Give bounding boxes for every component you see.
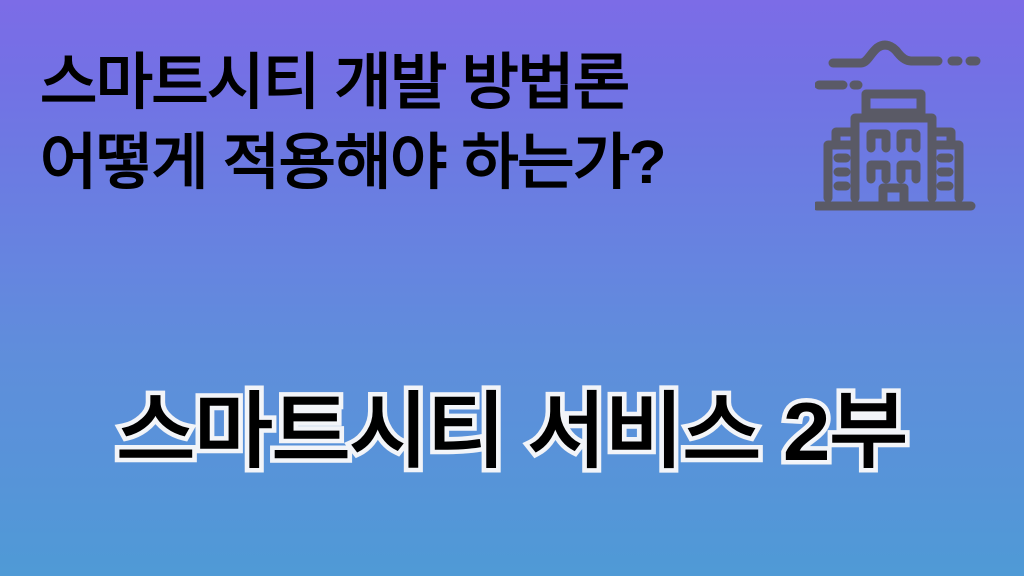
building-roof-cap [866,94,921,113]
headline-line-2: 어떻게 적용해야 하는가? [40,124,815,200]
city-buildings-icon-svg [815,40,1000,220]
headline: 스마트시티 개발 방법론 어떻게 적용해야 하는가? [40,44,800,200]
window-center-3 [871,165,886,179]
headline-line-1: 스마트시티 개발 방법론 [40,44,815,120]
building-center-door [883,188,904,202]
city-buildings-icon [815,40,1000,220]
window-center-2 [901,134,916,148]
bottom-title-container: 스마트시티 서비스 2부 [0,372,1024,492]
bottom-title: 스마트시티 서비스 2부 [117,380,908,484]
window-center-4 [901,165,916,179]
window-center-1 [871,134,886,148]
slide-canvas: 스마트시티 개발 방법론 어떻게 적용해야 하는가? [0,0,1024,576]
skyline-hill-path [833,45,938,63]
